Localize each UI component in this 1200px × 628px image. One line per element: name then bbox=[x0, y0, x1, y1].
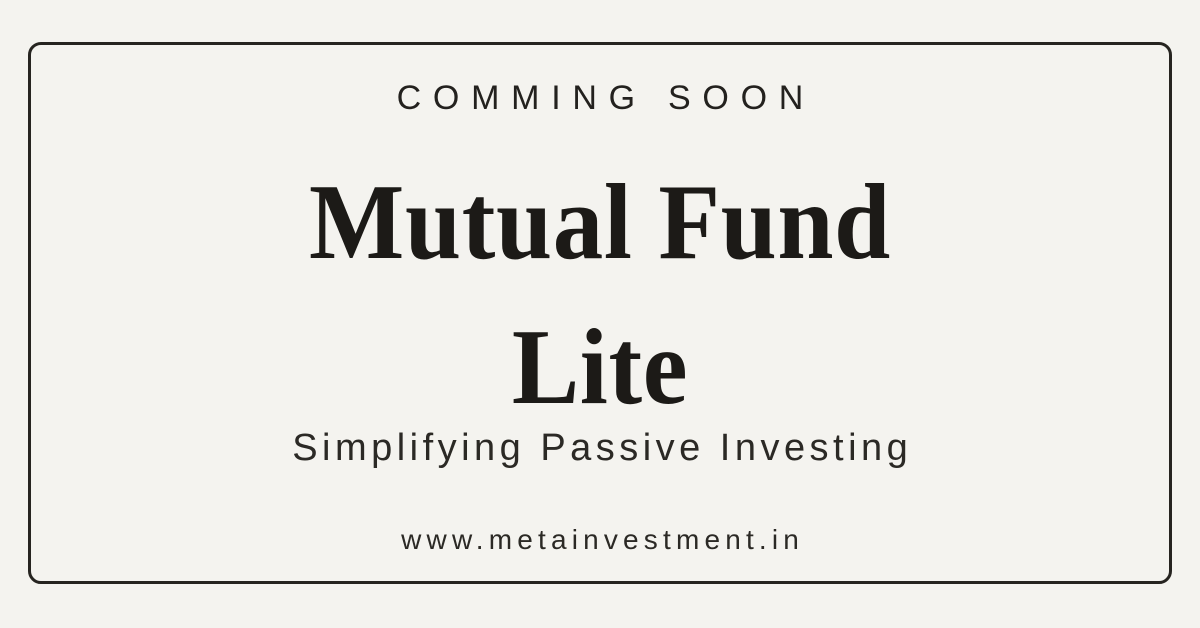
headline-line-2: Lite bbox=[65, 295, 1135, 440]
poster-tagline: Simplifying Passive Investing bbox=[28, 426, 1172, 470]
poster-content: COMMING SOON Mutual Fund Lite Simplifyin… bbox=[28, 42, 1172, 584]
website-url: www.metainvestment.in bbox=[28, 524, 1172, 556]
poster-headline: Mutual Fund Lite bbox=[28, 150, 1172, 440]
headline-line-1: Mutual Fund bbox=[65, 150, 1135, 295]
announcement-poster: COMMING SOON Mutual Fund Lite Simplifyin… bbox=[0, 0, 1200, 628]
eyebrow-coming-soon: COMMING SOON bbox=[28, 79, 1172, 117]
